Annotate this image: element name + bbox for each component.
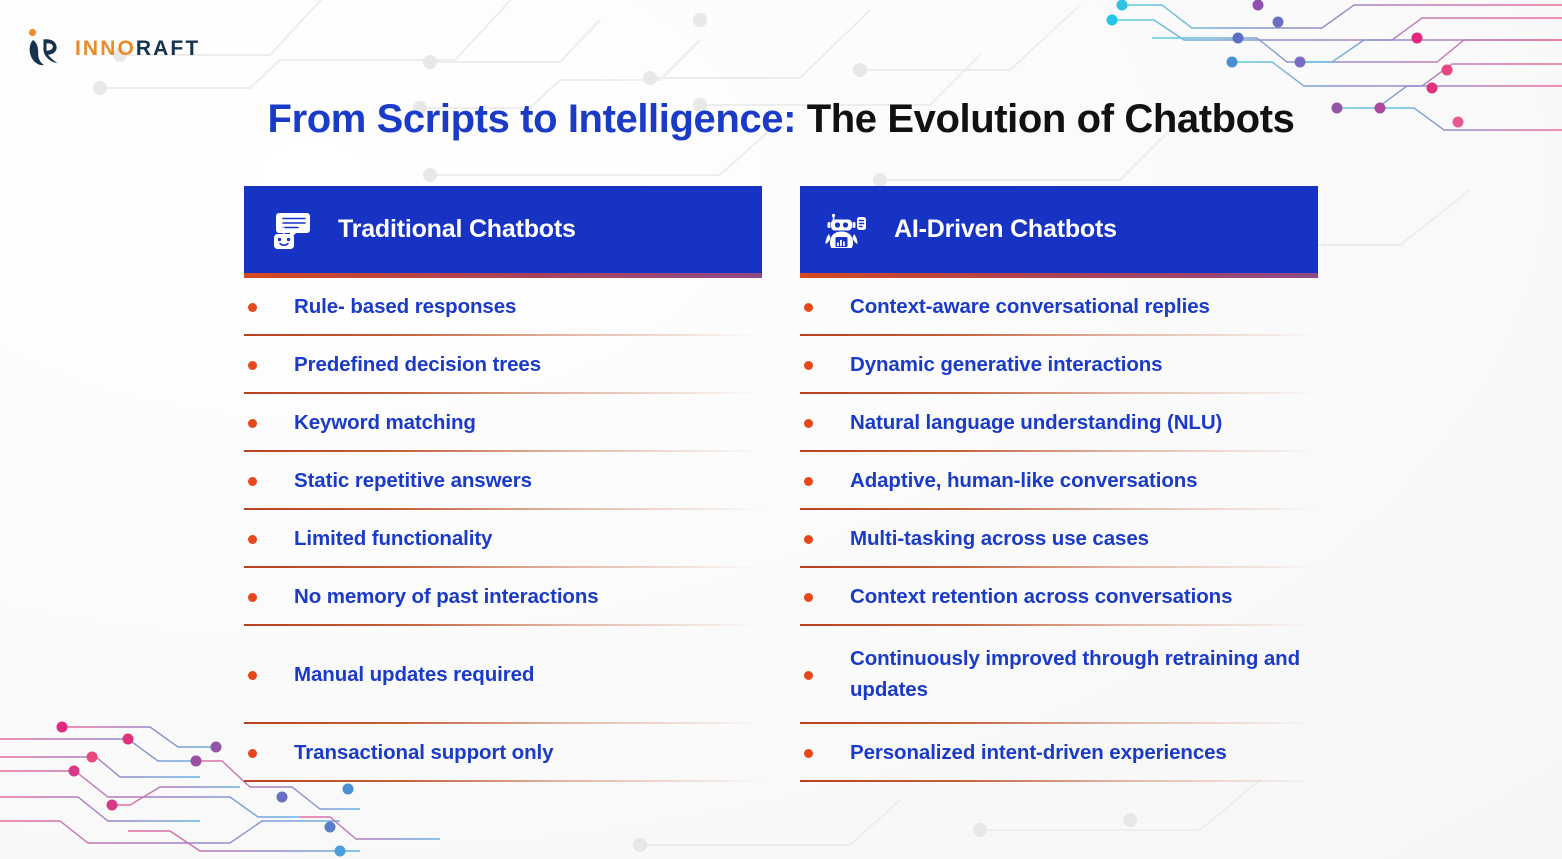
list-item[interactable]: Adaptive, human-like conversations [800,452,1318,510]
list-item-label: Transactional support only [294,738,553,769]
bullet-icon [248,593,257,602]
list-item[interactable]: Multi-tasking across use cases [800,510,1318,568]
list-item[interactable]: Predefined decision trees [244,336,762,394]
list-item-label: Context retention across conversations [850,582,1232,613]
list-item-label: Adaptive, human-like conversations [850,466,1197,497]
bullet-icon [804,477,813,486]
list-item[interactable]: Limited functionality [244,510,762,568]
list-item[interactable]: Transactional support only [244,724,762,782]
robot-head-icon [824,207,870,253]
brand-name: INNORAFT [75,38,200,59]
list-item-label: Multi-tasking across use cases [850,524,1149,555]
list-item-label: Rule- based responses [294,292,516,323]
bullet-icon [804,749,813,758]
card-title-ai-driven: AI-Driven Chatbots [894,215,1117,244]
list-item-label: Limited functionality [294,524,492,555]
bullet-icon [804,535,813,544]
column-ai-driven-chatbots: AI-Driven Chatbots Context-aware convers… [800,186,1318,782]
bullet-icon [248,749,257,758]
list-item-label: Manual updates required [294,660,534,691]
list-item-label: Dynamic generative interactions [850,350,1163,381]
page-title: From Scripts to Intelligence: The Evolut… [0,96,1562,142]
list-item[interactable]: Context-aware conversational replies [800,278,1318,336]
card-header-traditional: Traditional Chatbots [244,186,762,278]
brand-name-inno: INNO [75,37,136,60]
list-item-label: Continuously improved through retraining… [850,644,1318,706]
card-header-ai-driven: AI-Driven Chatbots [800,186,1318,278]
bullet-icon [248,477,257,486]
list-item[interactable]: Natural language understanding (NLU) [800,394,1318,452]
bullet-icon [804,593,813,602]
bullet-icon [248,535,257,544]
list-item[interactable]: Keyword matching [244,394,762,452]
list-item-label: Context-aware conversational replies [850,292,1210,323]
page-title-rest: The Evolution of Chatbots [796,97,1294,141]
bullet-icon [804,361,813,370]
bullet-icon [804,671,813,680]
column-traditional-chatbots: Traditional Chatbots Rule- based respons… [244,186,762,782]
bullet-icon [804,419,813,428]
list-item[interactable]: Context retention across conversations [800,568,1318,626]
bullet-icon [248,361,257,370]
bullet-icon [804,303,813,312]
bullet-icon [248,671,257,680]
list-item[interactable]: Continuously improved through retraining… [800,626,1318,724]
list-item[interactable]: No memory of past interactions [244,568,762,626]
card-title-traditional: Traditional Chatbots [338,215,576,244]
list-item-label: Natural language understanding (NLU) [850,408,1222,439]
list-item-label: Static repetitive answers [294,466,532,497]
brand-logo[interactable]: INNORAFT [24,27,200,69]
list-item-label: Keyword matching [294,408,476,439]
list-item[interactable]: Manual updates required [244,626,762,724]
list-item[interactable]: Dynamic generative interactions [800,336,1318,394]
innoraft-mark-icon [24,27,64,69]
list-item-label: No memory of past interactions [294,582,599,613]
bullet-icon [248,303,257,312]
brand-name-raft: RAFT [136,37,200,60]
page-title-accent: From Scripts to Intelligence: [268,97,796,141]
feature-list-ai-driven: Context-aware conversational replies Dyn… [800,278,1318,782]
bullet-icon [248,419,257,428]
comparison-columns: Traditional Chatbots Rule- based respons… [244,186,1318,782]
slide-canvas: INNORAFT From Scripts to Intelligence: T… [0,0,1562,859]
list-item[interactable]: Rule- based responses [244,278,762,336]
list-item-label: Personalized intent-driven experiences [850,738,1227,769]
feature-list-traditional: Rule- based responses Predefined decisio… [244,278,762,782]
list-item[interactable]: Static repetitive answers [244,452,762,510]
list-item-label: Predefined decision trees [294,350,541,381]
chat-bubble-bot-icon [268,207,314,253]
list-item[interactable]: Personalized intent-driven experiences [800,724,1318,782]
